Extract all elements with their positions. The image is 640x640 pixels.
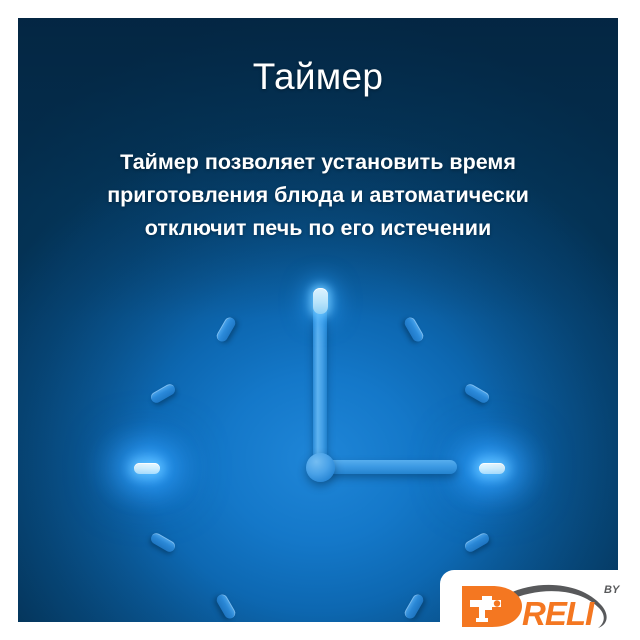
analog-clock [18,18,618,622]
description-line-2: приготовления блюда и автоматически [58,179,578,212]
glow-right [430,417,554,517]
clock-tick-2 [463,382,491,405]
clock-svg [18,18,618,622]
glow-left [85,417,209,517]
page-title: Таймер [18,56,618,98]
brand-logo-panel[interactable]: RELI BY [440,570,640,640]
clock-tick-10 [149,382,177,405]
clock-tick-11 [215,315,238,343]
clock-hour-hand [320,460,457,474]
clock-center-hub [306,453,335,482]
clock-tick-8 [149,531,177,554]
drill-chuck [494,600,500,606]
clock-tick-7 [215,592,238,620]
logo-wordmark: RELI [522,595,595,632]
clock-tick-3 [479,463,505,474]
blue-content-panel: Таймер Таймер позволяет установить время… [18,18,618,622]
clock-tick-4 [463,531,491,554]
logo-by-label: BY [604,584,621,596]
panel-vignette [18,18,618,622]
clock-minute-hand-tip [313,288,328,314]
clock-minute-hand [313,292,327,467]
description-text: Таймер позволяет установить время пригот… [58,146,578,245]
clock-tick-9 [134,463,160,474]
clock-tick-1 [403,315,426,343]
description-line-1: Таймер позволяет установить время [58,146,578,179]
brand-logo: RELI BY [452,576,632,634]
clock-tick-5 [403,592,426,620]
slide-root: Таймер Таймер позволяет установить время… [0,0,640,640]
description-line-3: отключит печь по его истечении [58,212,578,245]
